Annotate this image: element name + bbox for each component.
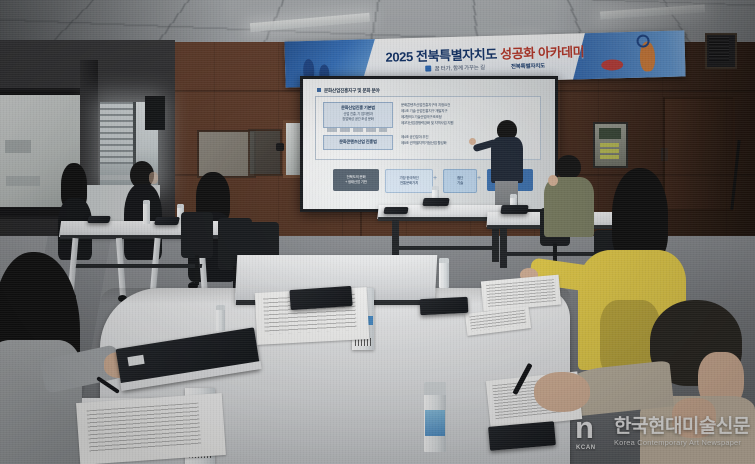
tablet-mid-right[interactable] — [500, 205, 528, 214]
control-panel-button-2[interactable] — [600, 149, 619, 153]
control-panel-button-1[interactable] — [600, 143, 619, 147]
chair-left-1-post — [195, 255, 199, 285]
bottle-back-left-1[interactable] — [143, 200, 150, 224]
slide-box-2-title: 문화콘텐츠산업 진흥법 — [324, 136, 392, 145]
bottle-cap — [510, 194, 517, 198]
banner-title-program: 성공화 아카데미 — [500, 44, 585, 61]
watermark: n KCAN 한국현대미술신문 Korea Contemporary Art N… — [575, 408, 750, 456]
handout-right-cols — [486, 279, 556, 307]
slide-paragraph-1: 문화콘텐츠산업진흥지구의 지정요건 — [401, 103, 533, 108]
bottle-cap — [439, 258, 449, 263]
watermark-logo-sub: KCAN — [576, 445, 596, 451]
wall-mount-bracket — [276, 143, 284, 151]
tablet-mid-left-2[interactable] — [383, 207, 408, 214]
slide-box-1-caption — [327, 128, 387, 132]
bottle-cap — [177, 204, 184, 208]
table-mid-left-crossbar — [398, 246, 494, 250]
slide-flow-box-3: 첨단 기술 — [443, 169, 477, 193]
bottle-foreground-3[interactable] — [216, 305, 225, 331]
attendee-olive — [540, 155, 602, 255]
bottle-cap — [216, 305, 225, 310]
handout-stack-left[interactable] — [76, 393, 226, 464]
slide-flow-plus-1: + — [433, 175, 437, 182]
slide-box-2: 문화콘텐츠산업 진흥법 — [323, 135, 393, 150]
window-blinds — [100, 102, 134, 164]
tablet-mid-left[interactable] — [422, 198, 449, 206]
handout-left-lines — [87, 403, 202, 453]
watermark-logo-letter: n — [575, 413, 609, 443]
bottle-cap — [432, 186, 439, 190]
watermark-text: 한국현대미술신문 Korea Contemporary Art Newspape… — [614, 417, 750, 447]
slide-heading: 문화산업진흥지구 및 문화 분야 — [317, 88, 380, 94]
slide-box-1-body: 산업 진흥, 기 업자원과 창업육성 공간 조성 문화 — [324, 111, 392, 121]
control-panel-screen — [599, 128, 621, 139]
attendee-olive-head — [556, 155, 581, 179]
banner-subtitle-org: 전북특별자치도 — [511, 63, 545, 70]
banner-subtitle-left: 꿈 터가, 함께 가꾸는 길 — [434, 65, 485, 72]
attendee-left-2-face — [149, 172, 158, 184]
tablet-back-left-2[interactable] — [87, 216, 111, 223]
bottle-foreground-1[interactable] — [424, 382, 446, 452]
tablet-back-left[interactable] — [154, 217, 180, 225]
left-whiteboard-note — [5, 140, 31, 153]
wall-speaker-grille — [709, 37, 729, 61]
slide-paragraph-2: 제1조 기술 산업진흥지구 개발지구 — [401, 109, 533, 114]
seminar-room-photo: 2025 전북특별자치도 성공화 아카데미 꿈 터가, 함께 가꾸는 길전북특별… — [0, 0, 755, 464]
wall-panel-dark — [248, 129, 282, 176]
attendee-olive-hand — [548, 175, 558, 186]
control-panel-button-3[interactable] — [600, 155, 619, 159]
watermark-korean: 한국현대미술신문 — [614, 417, 750, 437]
door-recess — [663, 97, 735, 211]
window-ac-unit — [145, 96, 165, 130]
slide-bullet-icon — [317, 88, 321, 92]
watermark-english: Korea Contemporary Art Newspaper — [614, 438, 750, 447]
table-mid-right-leg-1 — [500, 228, 507, 268]
banner-title-region: 전북특별자치도 — [416, 47, 497, 64]
chair-left-1-back[interactable] — [181, 212, 213, 258]
table-back-left-crossbar — [76, 264, 203, 268]
handout-right-2-cols — [469, 310, 526, 332]
slide-box-1-title: 문화산업진흥 기본법 — [324, 103, 392, 111]
slide-box-1: 문화산업진흥 기본법 산업 진흥, 기 업자원과 창업육성 공간 조성 문화 — [323, 102, 393, 128]
banner-chip-icon — [425, 65, 431, 71]
bottle-cap — [143, 200, 150, 204]
slide-heading-text: 문화산업진흥지구 및 문화 분야 — [324, 88, 380, 93]
writing-hand — [534, 372, 590, 412]
banner-title-year: 2025 — [385, 49, 413, 65]
watermark-logo: n KCAN — [575, 413, 609, 451]
bottle-cap — [424, 382, 446, 395]
left-whiteboard-note-2 — [6, 176, 40, 186]
presenter-hand — [469, 138, 476, 145]
tablet-foreground-3[interactable] — [420, 297, 469, 315]
slide-flow-plus-2: + — [477, 175, 481, 182]
bottle-label — [425, 410, 445, 436]
bottle-foreground-2[interactable] — [439, 258, 449, 288]
slide-flow-box-2: 가장 한국적인 전통문화가치 — [385, 169, 433, 193]
slide-flow-box-1: 전북도의 문화 + 생태산업 기반 — [333, 169, 379, 191]
